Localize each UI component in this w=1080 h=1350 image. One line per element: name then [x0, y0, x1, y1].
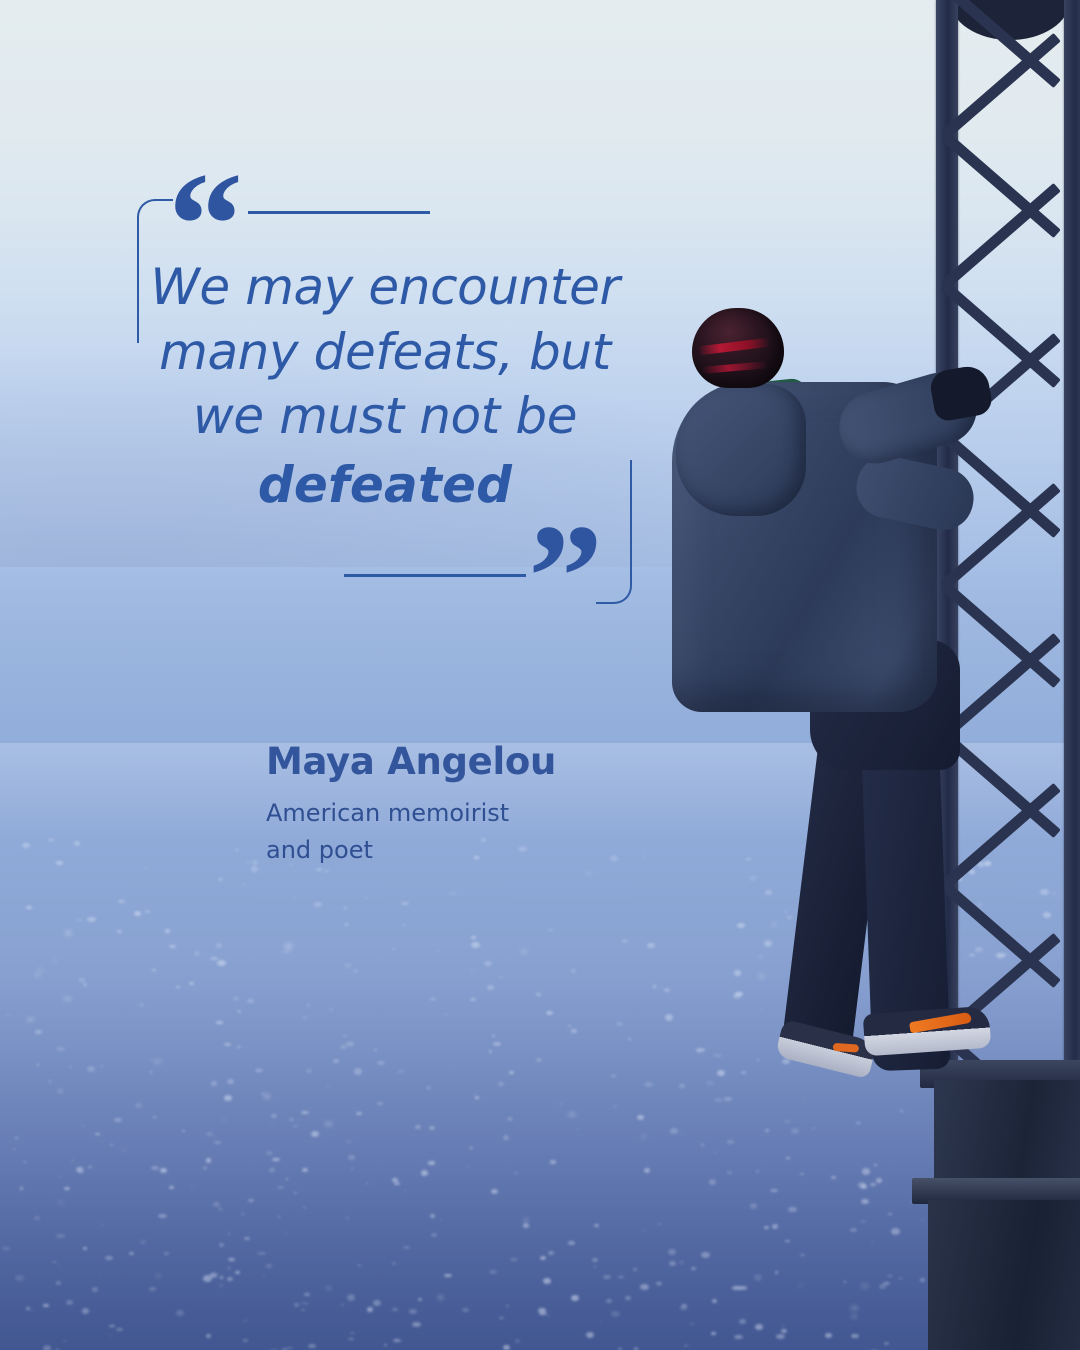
climber-glove	[928, 363, 994, 422]
quote-rule-top	[248, 211, 430, 214]
climber-figure	[660, 0, 1080, 1120]
quote-line-1: We may encounter	[150, 258, 619, 316]
close-quote-icon: ”	[528, 502, 599, 652]
author-name: Maya Angelou	[266, 742, 606, 783]
quote-line-2: many defeats, but	[159, 323, 611, 381]
climber-beanie	[692, 308, 784, 388]
attribution: Maya Angelou American memoirist and poet	[266, 742, 606, 869]
author-role: American memoirist and poet	[266, 795, 516, 869]
tower-housing-lower	[928, 1200, 1080, 1350]
quote-poster: “ We may encounter many defeats, but we …	[0, 0, 1080, 1350]
climber-shoe-front	[863, 1006, 992, 1057]
quote-rule-bottom	[344, 574, 526, 577]
quote-line-3: we must not be	[193, 387, 577, 445]
quote-block: “ We may encounter many defeats, but we …	[0, 0, 700, 900]
quote-text: We may encounter many defeats, but we mu…	[150, 255, 620, 517]
